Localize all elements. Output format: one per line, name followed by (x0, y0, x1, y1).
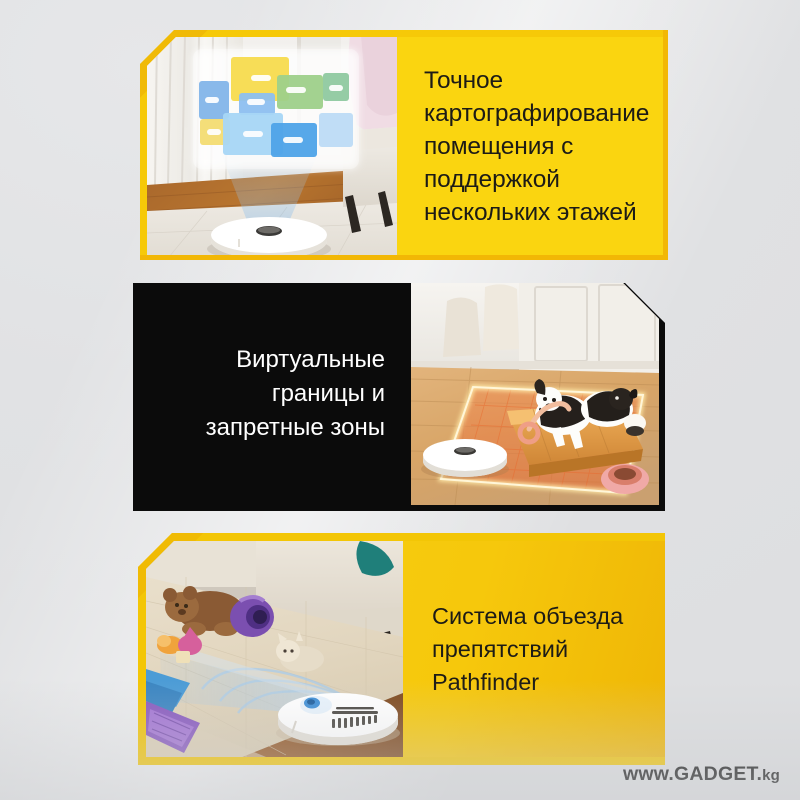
card-content: Система объезда препятствий Pathfinder (146, 541, 665, 757)
watermark-tld: kg (762, 767, 780, 784)
robot-vacuum-room-mapping-photo (147, 37, 397, 255)
obstacle-avoidance-pathfinder-photo (146, 541, 403, 757)
card-content: Виртуальные границы и запретные зоны (133, 283, 659, 505)
mapping-line-1: Точное (424, 64, 649, 97)
mapping-line-5: нескольких этажей (424, 196, 649, 229)
pathfinder-line-3: Pathfinder (432, 666, 651, 699)
boundaries-line-1: Виртуальные (155, 343, 385, 377)
mapping-line-4: поддержкой (424, 163, 649, 196)
feature-card-virtual-boundaries-text: Виртуальные границы и запретные зоны (133, 283, 411, 505)
feature-card-mapping-text: Точное картографирование помещения с под… (397, 37, 663, 255)
boundaries-line-3: запретные зоны (155, 411, 385, 445)
mapping-line-2: картографирование (424, 97, 649, 130)
feature-card-pathfinder-text: Система объезда препятствий Pathfinder (403, 541, 665, 757)
mapping-line-3: помещения с (424, 130, 649, 163)
pathfinder-line-2: препятствий (432, 633, 651, 666)
boundaries-line-2: границы и (155, 377, 385, 411)
card-content: Точное картографирование помещения с под… (147, 37, 663, 255)
pathfinder-line-1: Система объезда (432, 600, 651, 633)
promo-banner: Точное картографирование помещения с под… (0, 0, 800, 800)
feature-card-virtual-boundaries[interactable]: Виртуальные границы и запретные зоны (133, 283, 665, 511)
feature-card-mapping[interactable]: Точное картографирование помещения с под… (140, 30, 668, 260)
site-watermark: www.GADGET.kg (623, 763, 780, 786)
watermark-domain: www.GADGET. (623, 763, 762, 785)
puppies-no-go-zone-photo (411, 283, 659, 505)
feature-card-pathfinder[interactable]: Система объезда препятствий Pathfinder (138, 533, 665, 765)
